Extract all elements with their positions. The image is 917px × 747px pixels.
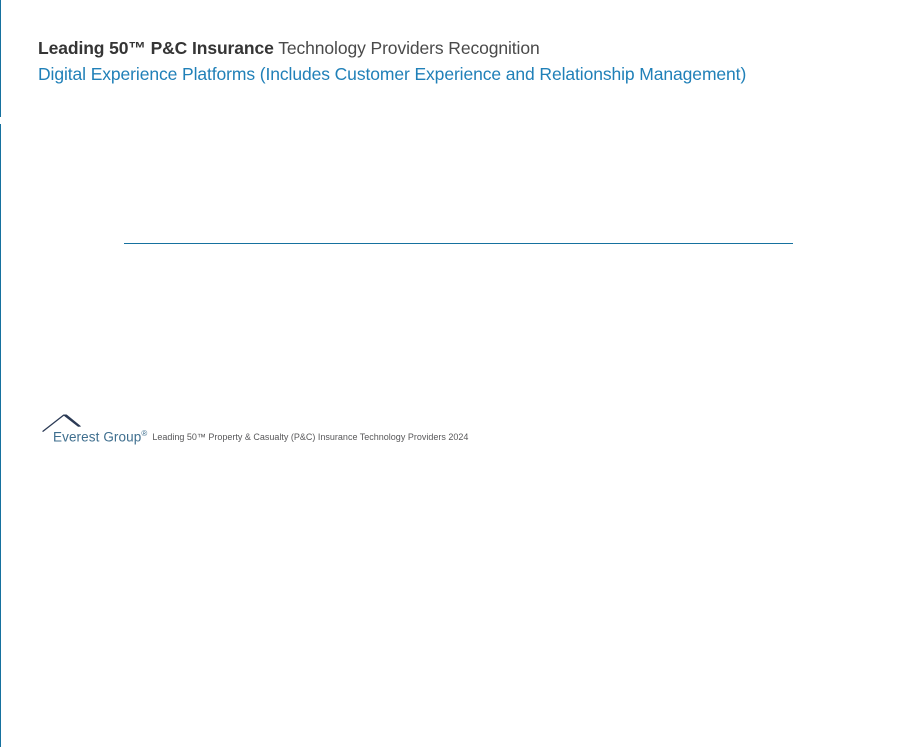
page-title-emphasis: Leading 50™ P&C Insurance: [38, 38, 274, 58]
mountain-peak-icon: [42, 414, 98, 432]
page-title: Leading 50™ P&C Insurance Technology Pro…: [38, 36, 878, 61]
page-title-rest: Technology Providers Recognition: [274, 38, 540, 58]
matrix-cell-top-1: [124, 123, 294, 243]
matrix-cell-bottom-1: [124, 245, 294, 372]
matrix-cell-top-4: [628, 123, 793, 243]
matrix-divider-vertical-2: [0, 249, 1, 498]
page-subtitle: Digital Experience Platforms (Includes C…: [38, 61, 878, 87]
matrix-cell-bottom-3: [462, 245, 627, 372]
everest-group-logo: Everest Group®: [40, 414, 147, 444]
matrix-cell-top-3: [462, 123, 627, 243]
footer-caption: Leading 50™ Property & Casualty (P&C) In…: [147, 431, 468, 445]
registered-mark-icon: ®: [141, 429, 147, 438]
matrix-cell-top-2: [295, 123, 461, 243]
matrix-divider-vertical-1: [0, 0, 1, 249]
matrix-divider-vertical-3: [0, 498, 1, 747]
matrix-cell-bottom-2: [295, 245, 461, 372]
page-header: Leading 50™ P&C Insurance Technology Pro…: [38, 36, 878, 87]
matrix-axis-horizontal: [124, 243, 793, 244]
page-footer: Everest Group® Leading 50™ Property & Ca…: [40, 414, 468, 444]
matrix-cell-bottom-4: [628, 245, 793, 372]
